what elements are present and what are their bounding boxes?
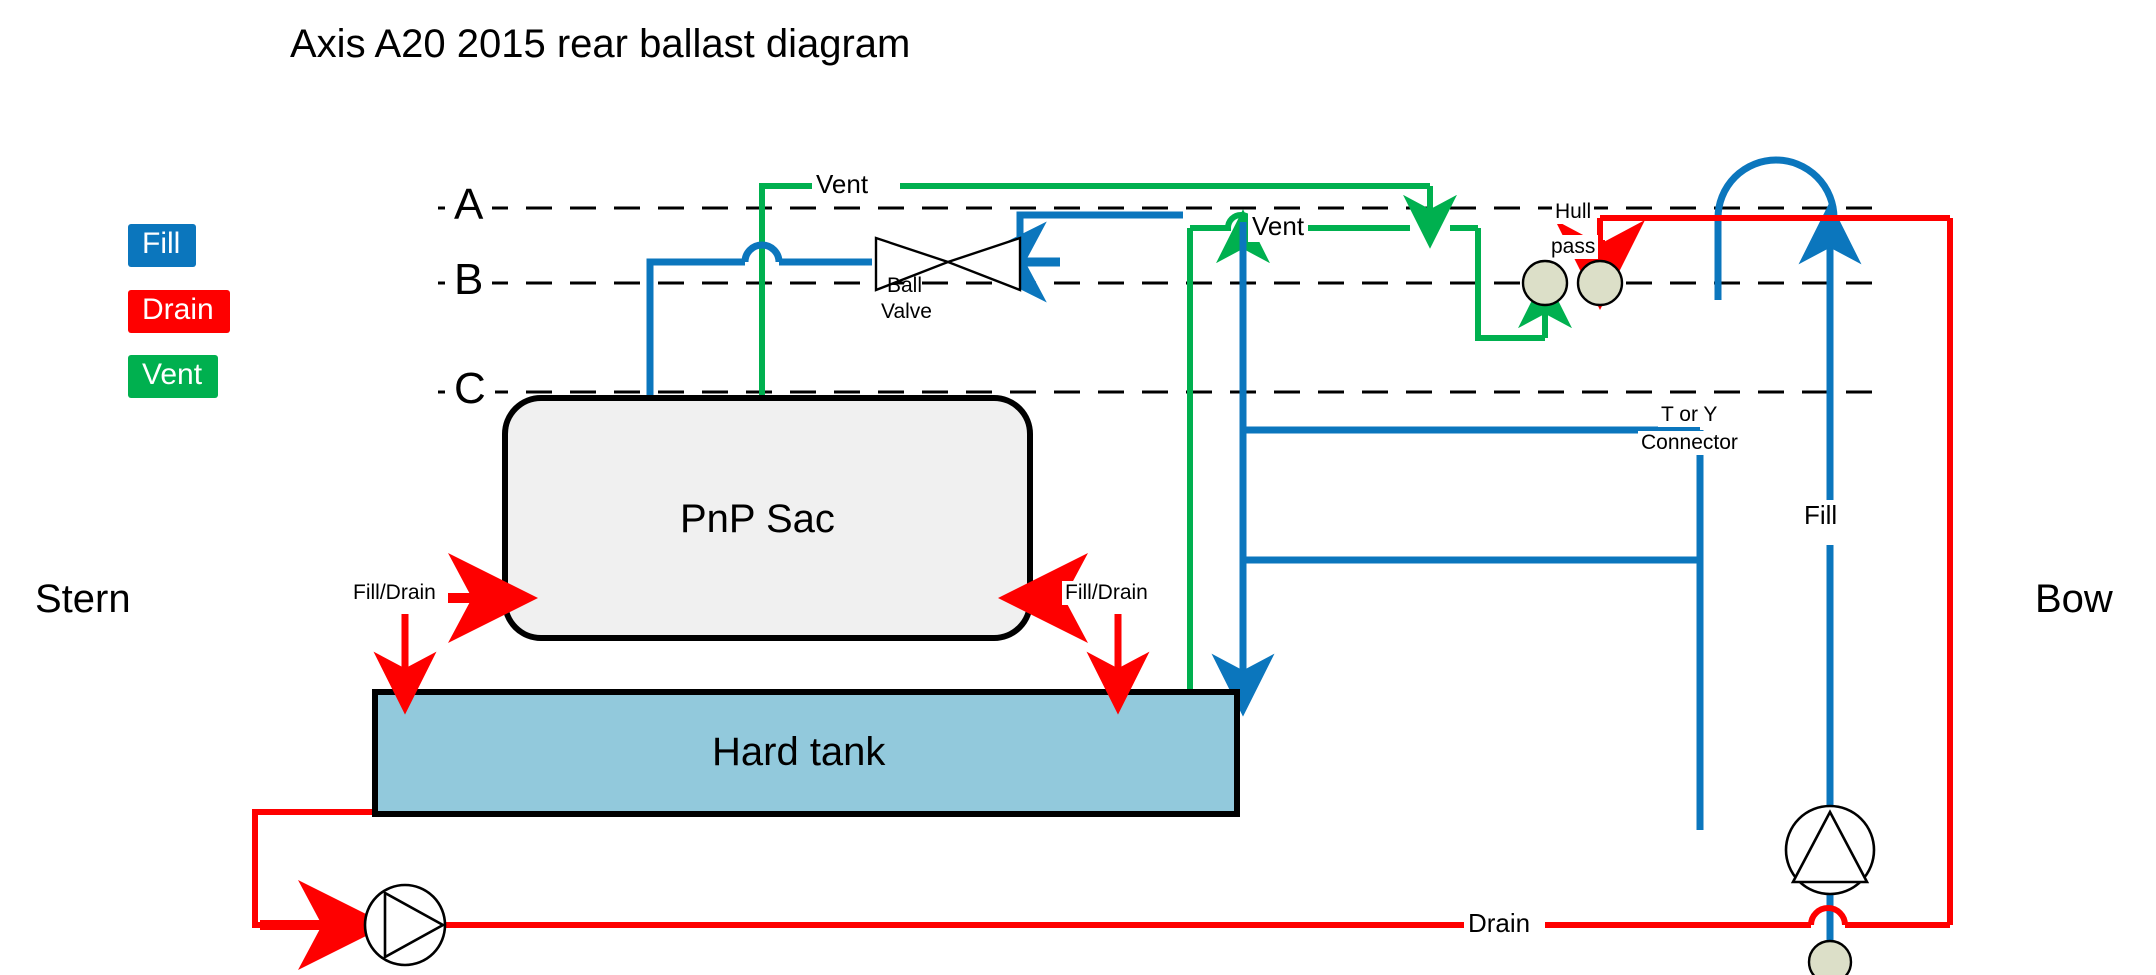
drain-to-hard-tank [255, 812, 375, 925]
legend-item-drain: Drain [128, 290, 230, 333]
reference-line-group [438, 208, 1880, 392]
page-title: Axis A20 2015 rear ballast diagram [290, 22, 910, 67]
drain-bottom-label: Drain [1464, 908, 1534, 939]
ball-valve-label-line1: Ball [884, 274, 925, 298]
legend-item-fill: Fill [128, 224, 196, 267]
vent-top-label: Vent [812, 169, 872, 200]
fill-drain-left-label: Fill/Drain [350, 581, 439, 605]
fill-pump-symbol [1786, 806, 1874, 894]
fill-drain-right-label: Fill/Drain [1062, 581, 1151, 605]
hull-pass-fitting-drain [1578, 261, 1622, 305]
reference-label-C: C [445, 364, 495, 414]
hull-pass-label-line1: Hull [1552, 200, 1594, 224]
fill-arrowheads [1000, 228, 1830, 690]
fill-hardtank-branch [1243, 430, 1700, 560]
t-or-y-connector-label-line2: Connector [1638, 431, 1741, 455]
diagram-vector-layer [0, 0, 2156, 975]
drain-pump-symbol [365, 885, 445, 965]
hull-pass-label-line2: pass [1548, 235, 1598, 259]
hard-tank-label: Hard tank [712, 730, 885, 775]
vent-mid-label: Vent [1248, 211, 1308, 242]
fill-valve-feed-riser [1020, 215, 1183, 262]
legend-item-vent: Vent [128, 355, 218, 398]
bow-label: Bow [2035, 577, 2113, 622]
hull-pass-fitting-vent [1523, 261, 1567, 305]
fill-vertical-label: Fill [1800, 500, 1841, 531]
reference-label-A: A [445, 180, 492, 230]
stern-label: Stern [35, 577, 131, 622]
ballast-diagram-canvas: Axis A20 2015 rear ballast diagram Fill … [0, 0, 2156, 975]
ball-valve-label-line2: Valve [878, 300, 935, 324]
vent-sac-riser [762, 186, 820, 410]
t-or-y-connector-label-line1: T or Y [1658, 403, 1720, 427]
hull-pass-fitting-fill [1809, 941, 1851, 975]
fill-ty-branch [1243, 222, 1700, 430]
pnp-sac-label: PnP Sac [680, 497, 835, 542]
reference-label-B: B [445, 255, 492, 305]
